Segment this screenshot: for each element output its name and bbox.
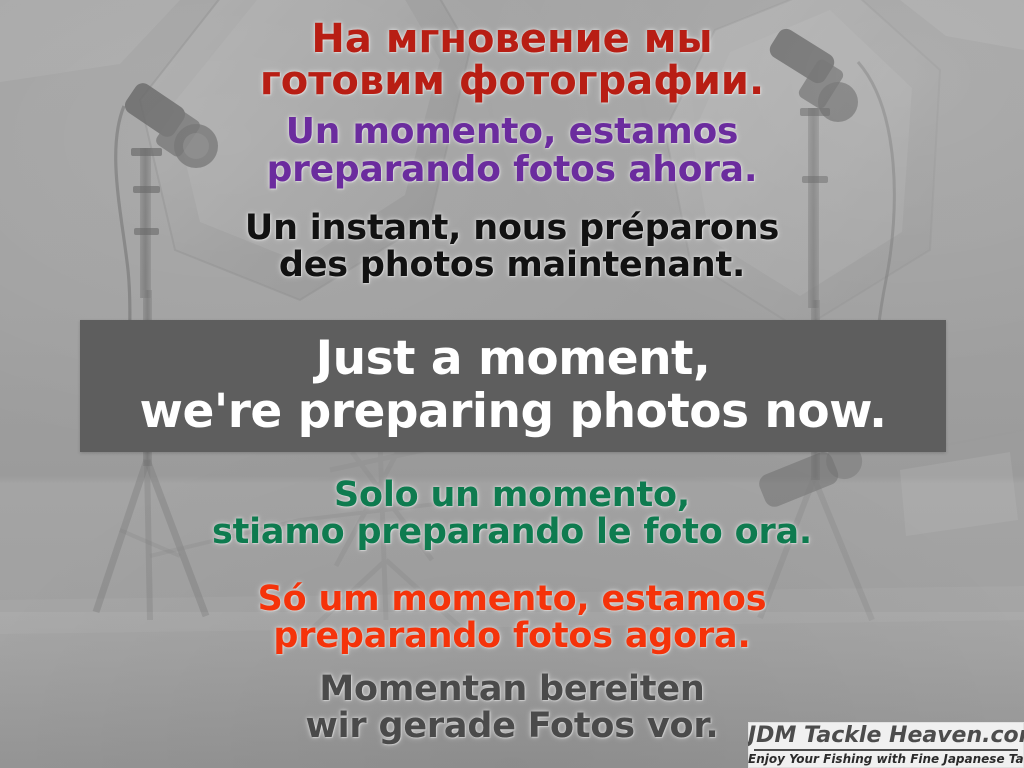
watermark-tagline: Enjoy Your Fishing with Fine Japanese Ta… <box>748 751 1024 767</box>
message-spanish: Un momento, estamos preparando fotos aho… <box>0 113 1024 189</box>
message-russian: На мгновение мы готовим фотографии. <box>0 18 1024 103</box>
watermark-logo: JDM Tackle Heaven.com Enjoy Your Fishing… <box>748 722 1024 768</box>
message-italian: Solo un momento, stiamo preparando le fo… <box>0 477 1024 551</box>
placeholder-image: На мгновение мы готовим фотографии. Un m… <box>0 0 1024 768</box>
message-english: Just a moment, we're preparing photos no… <box>80 320 946 452</box>
watermark-title: JDM Tackle Heaven.com <box>748 723 1024 749</box>
english-message-banner: Just a moment, we're preparing photos no… <box>80 320 946 452</box>
message-portuguese: Só um momento, estamos preparando fotos … <box>0 581 1024 655</box>
message-stack: На мгновение мы готовим фотографии. Un m… <box>0 0 1024 768</box>
message-french: Un instant, nous préparons des photos ma… <box>0 210 1024 284</box>
